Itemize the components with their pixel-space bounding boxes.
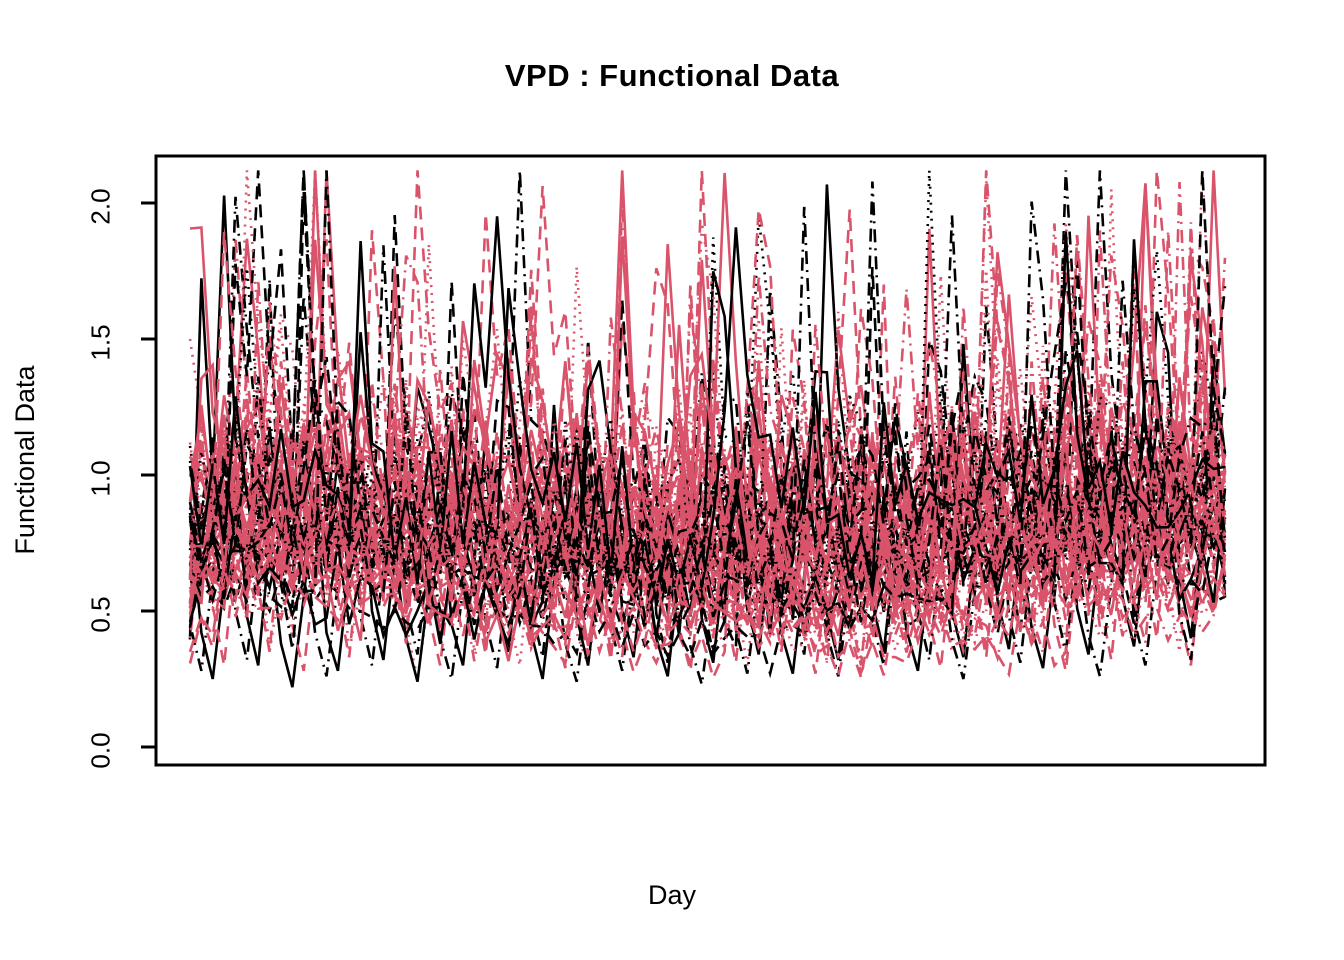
y-axis-ticks (141, 203, 156, 747)
curve-layer (190, 170, 1225, 687)
plot-canvas (0, 0, 1344, 960)
functional-data-plot: VPD : Functional Data Functional Data Da… (0, 0, 1344, 960)
